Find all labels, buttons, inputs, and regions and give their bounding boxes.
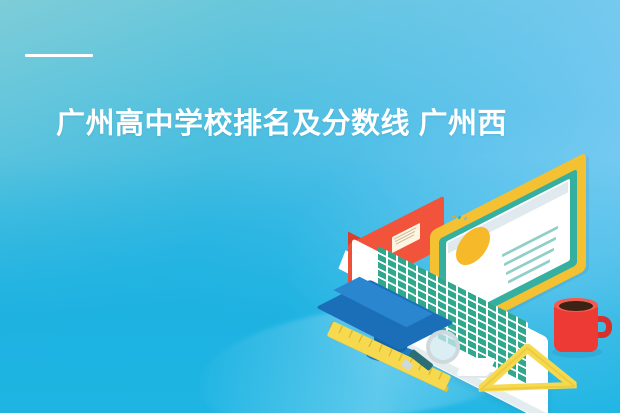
illustration-desk-scene: [330, 196, 620, 413]
banner: 广州高中学校排名及分数线 广州西: [0, 0, 620, 413]
accent-rule: [25, 54, 93, 57]
coffee-surface: [559, 301, 593, 311]
magnifier-lens-icon: [426, 330, 460, 364]
page-title: 广州高中学校排名及分数线 广州西: [56, 104, 596, 144]
